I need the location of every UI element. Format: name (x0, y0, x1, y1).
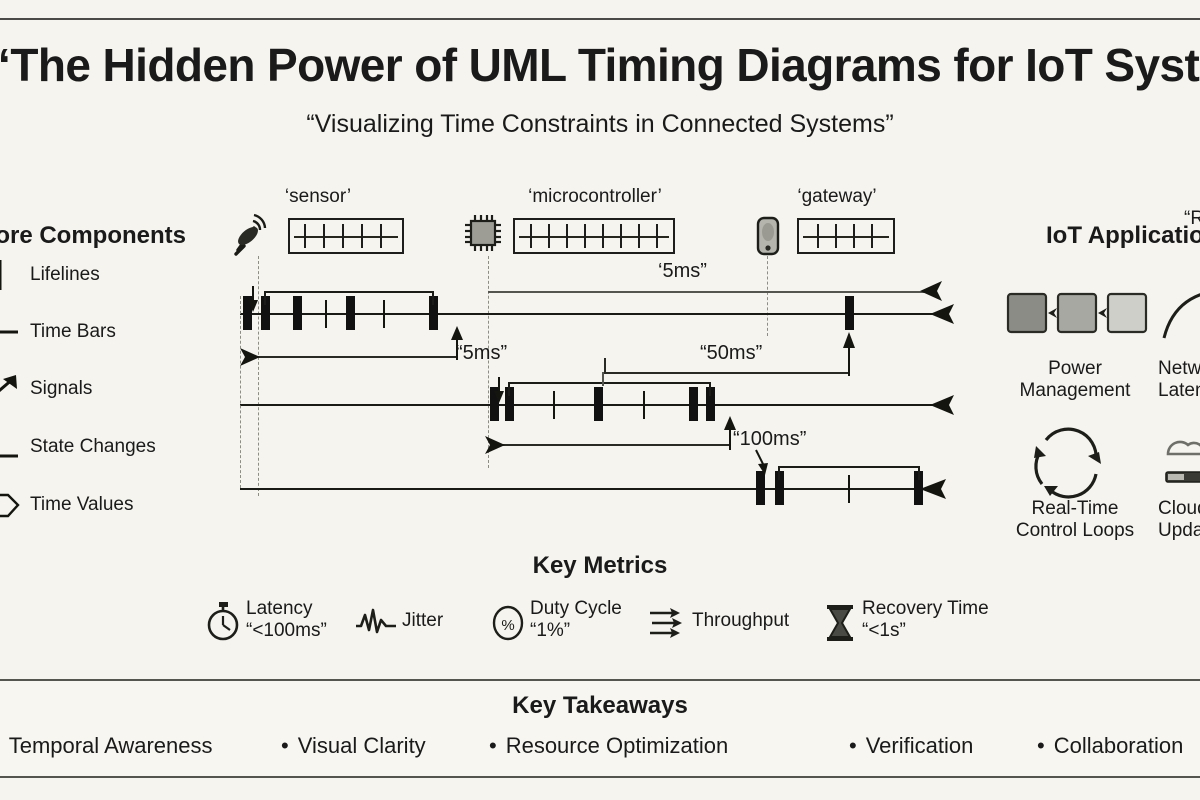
legend-item-time-values[interactable]: Time Values (0, 488, 222, 522)
metric-jitter[interactable]: Jitter (356, 598, 466, 654)
app-label-line2: Control Loops (1016, 520, 1134, 541)
app-label-line2: Management (1020, 380, 1131, 401)
tick (835, 224, 837, 247)
tick (380, 224, 382, 247)
takeaways-top-divider (0, 679, 1200, 681)
tick (853, 224, 855, 247)
lifeline-name-gateway: ‘gateway’ (767, 186, 907, 208)
metric-text: Throughput (692, 610, 789, 632)
tick-box-microcontroller (513, 218, 675, 254)
key-takeaways-heading: Key Takeaways (0, 692, 1200, 720)
time-bar-lane-2 (240, 404, 940, 406)
time-value-5ms-lower: “5ms” (456, 342, 507, 365)
bullet-icon: • (849, 733, 857, 758)
cloud-progress-icon (1158, 424, 1200, 498)
percent-circle-icon: % (490, 600, 530, 644)
measure-line-50ms (604, 372, 850, 374)
legend-item-signals[interactable]: Signals (0, 372, 222, 406)
metric-text: Latency “<100ms” (246, 598, 327, 643)
legend-label: Lifelines (30, 264, 100, 286)
legend-item-state-changes[interactable]: State Changes (0, 430, 222, 464)
tick-box-sensor (288, 218, 404, 254)
takeaway-resource-optimization[interactable]: •Resource Optimization (489, 733, 728, 759)
metric-throughput[interactable]: Throughput (648, 598, 818, 654)
throughput-arrows-icon (648, 600, 688, 644)
legend-item-lifelines[interactable]: Lifelines (0, 258, 222, 292)
tick (871, 224, 873, 247)
tick (566, 224, 568, 247)
lifeline-name-microcontroller: ‘microcontroller’ (488, 186, 702, 208)
lane-1-bracket (264, 291, 434, 305)
tick (342, 224, 344, 247)
metric-value: “1%” (530, 620, 570, 641)
metric-latency[interactable]: Latency “<100ms” (206, 598, 346, 654)
right-panel-heading: IoT Applications (1046, 222, 1200, 250)
time-value-50ms: “50ms” (700, 342, 762, 365)
takeaway-temporal-awareness[interactable]: •Temporal Awareness (0, 733, 213, 759)
metric-name: Throughput (692, 610, 789, 631)
app-power-management[interactable]: Power Management (1000, 284, 1150, 403)
latency-curve-icon (1158, 284, 1200, 358)
signal-arrow-head (920, 278, 952, 306)
metric-name: Jitter (402, 610, 443, 631)
app-label-line2: Updates (1158, 520, 1200, 541)
bracket-top (778, 466, 920, 468)
signal-arrow-down-gateway (752, 450, 774, 478)
tick-axis (294, 236, 398, 238)
tick-axis (519, 236, 669, 238)
measure-line-100ms (492, 444, 730, 446)
bullet-icon: • (1037, 733, 1045, 758)
legend-label: Signals (30, 378, 92, 400)
takeaway-label: Visual Clarity (298, 733, 426, 758)
bullet-icon: • (489, 733, 497, 758)
app-label: Power Management (1000, 358, 1150, 403)
takeaway-label: Resource Optimization (506, 733, 729, 758)
time-bar-lane-3 (240, 488, 930, 490)
page-title: “The Hidden Power of UML Timing Diagrams… (0, 42, 1200, 88)
takeaway-verification[interactable]: •Verification (849, 733, 973, 759)
app-label: Real-Time Control Loops (1000, 498, 1150, 543)
takeaway-label: Temporal Awareness (9, 733, 213, 758)
page-subtitle: “Visualizing Time Constraints in Connect… (0, 110, 1200, 139)
svg-text:%: % (501, 617, 514, 634)
app-cloud-updates[interactable]: Cloud Updates (1158, 424, 1200, 543)
step-line-icon (0, 430, 34, 464)
time-bar-lane-1 (240, 313, 940, 315)
bracket-top (508, 382, 711, 384)
waveform-icon (356, 600, 396, 644)
bracket-right (432, 291, 434, 305)
app-network-latency[interactable]: Network Latency (1158, 284, 1200, 403)
takeaway-visual-clarity[interactable]: •Visual Clarity (281, 733, 426, 759)
tick (361, 224, 363, 247)
takeaway-collaboration[interactable]: •Collaboration (1037, 733, 1183, 759)
lifeline-dash-gateway (767, 256, 768, 336)
app-label-line1: Network (1158, 358, 1200, 379)
measure-line-5ms (246, 356, 458, 358)
metric-duty-cycle[interactable]: % Duty Cycle “1%” (490, 598, 640, 654)
app-label-line2: Latency (1158, 380, 1200, 401)
tick (817, 224, 819, 247)
app-label: Network Latency (1158, 358, 1200, 403)
bracket-right (918, 466, 920, 480)
takeaways-bottom-divider (0, 776, 1200, 778)
vertical-line-icon (0, 258, 34, 292)
metric-name: Recovery Time (862, 598, 989, 619)
tick (638, 224, 640, 247)
time-value-5ms-upper: ‘5ms” (658, 260, 707, 283)
lifeline-name-sensor: ‘sensor’ (258, 186, 378, 208)
bracket-right (709, 382, 711, 396)
hourglass-icon (822, 600, 862, 644)
metric-name: Latency (246, 598, 313, 619)
legend-item-time-bars[interactable]: Time Bars (0, 315, 222, 349)
app-label: Cloud Updates (1158, 498, 1200, 543)
tick (304, 224, 306, 247)
state-bar-gateway-lane1 (845, 296, 854, 330)
lane-2-bracket (508, 382, 711, 396)
tick (530, 224, 532, 247)
metric-recovery-time[interactable]: Recovery Time “<1s” (822, 598, 1012, 654)
measure-arrow-up-50ms (841, 332, 859, 376)
horizontal-line-icon (0, 315, 34, 349)
stopwatch-icon (206, 600, 246, 644)
tick (656, 224, 658, 247)
infographic-poster: “The Hidden Power of UML Timing Diagrams… (0, 0, 1200, 800)
lane-3-end-arrow (920, 475, 954, 503)
bracket-left (508, 382, 510, 396)
diagonal-arrow-icon (0, 372, 34, 406)
tick (584, 224, 586, 247)
app-label-line1: Power (1048, 358, 1102, 379)
metric-text: Recovery Time “<1s” (862, 598, 989, 643)
time-value-100ms: “100ms” (733, 428, 806, 451)
takeaway-label: Collaboration (1054, 733, 1184, 758)
metric-text: Duty Cycle “1%” (530, 598, 622, 643)
bracket-left (264, 291, 266, 305)
tick (548, 224, 550, 247)
legend-label: State Changes (30, 436, 156, 458)
lane-connector (602, 372, 604, 386)
mobile-device-icon (752, 212, 784, 260)
tick (323, 224, 325, 247)
metric-value: “<1s” (862, 620, 906, 641)
measure-arrow-left-100ms (481, 432, 507, 458)
chip-icon (462, 212, 506, 258)
tick (620, 224, 622, 247)
legend-label: Time Bars (30, 321, 116, 343)
top-divider (0, 18, 1200, 20)
tick (602, 224, 604, 247)
metric-name: Duty Cycle (530, 598, 622, 619)
signal-arrow-down-micro (492, 377, 508, 405)
satellite-dish-icon (232, 214, 280, 260)
bullet-icon: • (281, 733, 289, 758)
bracket-left (778, 466, 780, 480)
right-panel-quote: “R (1184, 208, 1200, 230)
origin-guide (240, 296, 242, 488)
tag-icon (0, 488, 34, 522)
legend-label: Time Values (30, 494, 133, 516)
signal-arrow-down-sensor (246, 286, 262, 314)
left-panel-heading: “Core Components (0, 222, 186, 250)
tick-axis (803, 236, 889, 238)
bracket-top (264, 291, 434, 293)
lane-3-origin (240, 488, 242, 490)
state-blocks-icon (1000, 284, 1150, 358)
metric-text: Jitter (402, 610, 443, 632)
key-metrics-heading: Key Metrics (0, 552, 1200, 580)
app-real-time-control-loops[interactable]: Real-Time Control Loops (1000, 424, 1150, 543)
measure-riser-50ms-left (604, 358, 606, 374)
metric-value: “<100ms” (246, 620, 327, 641)
signal-line-micro-to-gateway (488, 291, 928, 293)
circular-arrows-icon (1000, 424, 1150, 498)
lane-3-bracket (778, 466, 920, 480)
takeaway-label: Verification (866, 733, 974, 758)
tick-box-gateway (797, 218, 895, 254)
lane-2-end-arrow (930, 391, 964, 419)
